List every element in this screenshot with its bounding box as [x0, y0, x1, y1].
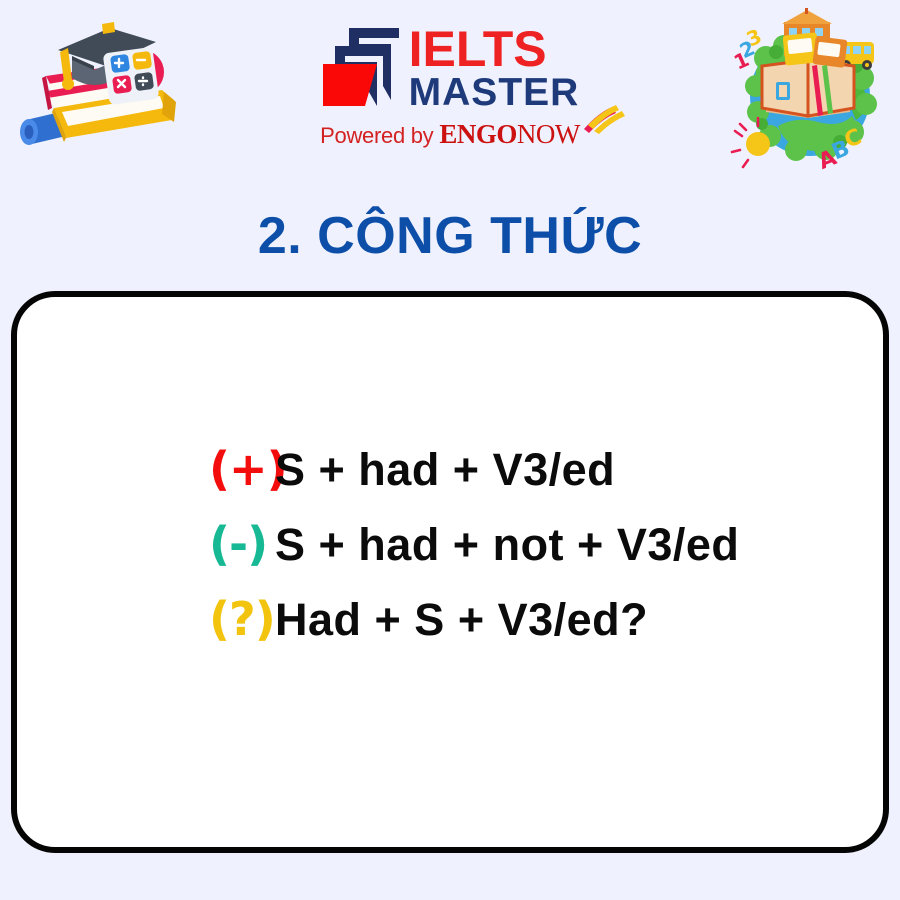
negative-formula-text: S + had + not + V3/ed — [275, 519, 739, 571]
education-globe-school-illustration: 1 2 3 A B C — [722, 8, 892, 173]
formula-list: (+) S + had + V3/ed (-) S + had + not + … — [209, 442, 739, 667]
brand-name-secondary: MASTER — [409, 74, 580, 111]
affirmative-symbol: (+) — [209, 442, 275, 496]
interrogative-symbol: (?) — [209, 592, 275, 646]
graduation-cap-books-calculator-illustration — [14, 8, 194, 158]
page-title: 2. CÔNG THỨC — [0, 206, 900, 266]
formula-card: (+) S + had + V3/ed (-) S + had + not + … — [11, 291, 889, 853]
brand-wordmark: IELTS MASTER — [409, 26, 580, 111]
negative-symbol: (-) — [209, 517, 275, 571]
brand-logo-row: IELTS MASTER — [300, 26, 600, 111]
formula-row-interrogative: (?) Had + S + V3/ed? — [209, 592, 739, 667]
brand-logo: IELTS MASTER Powered by ENGO NOW — [300, 26, 600, 150]
engo-wordmark: ENGO — [439, 119, 517, 150]
formula-row-affirmative: (+) S + had + V3/ed — [209, 442, 739, 517]
interrogative-formula-text: Had + S + V3/ed? — [275, 594, 648, 646]
powered-by-engonow: Powered by ENGO NOW — [300, 119, 600, 150]
brand-name-primary: IELTS — [409, 26, 580, 74]
ielts-master-books-logo-icon — [321, 26, 403, 110]
now-wordmark: NOW — [517, 119, 580, 150]
open-book-burst-icon — [582, 103, 626, 135]
powered-by-label: Powered by — [320, 123, 433, 149]
affirmative-formula-text: S + had + V3/ed — [275, 444, 615, 496]
formula-row-negative: (-) S + had + not + V3/ed — [209, 517, 739, 592]
